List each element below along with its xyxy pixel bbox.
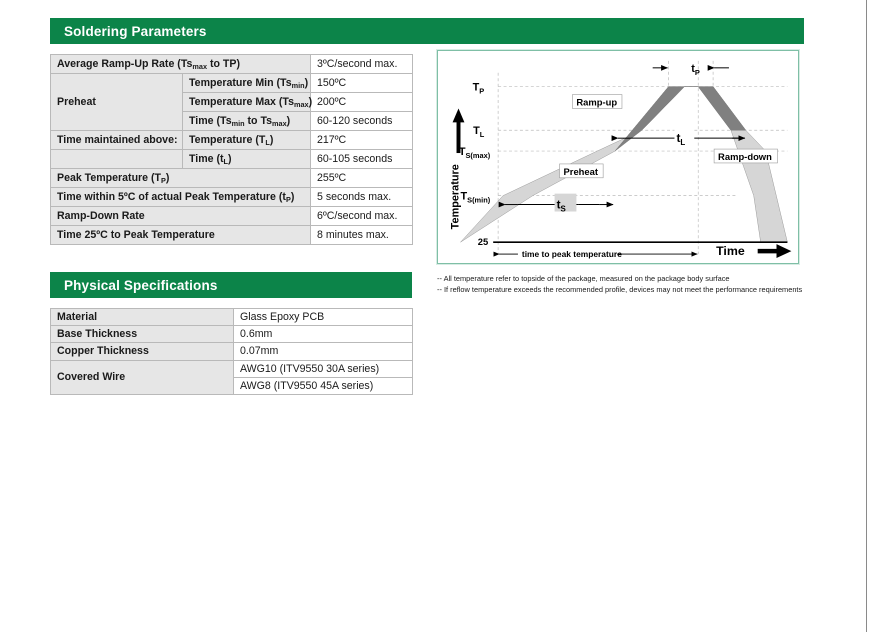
section-header-soldering-parameters: Soldering Parameters [50, 18, 804, 44]
cell-label-copper-thickness: Copper Thickness [51, 343, 234, 360]
section-title-soldering: Soldering Parameters [64, 24, 207, 39]
section-title-physical: Physical Specifications [64, 278, 218, 293]
annotation-ramp-up-label: Ramp-up [576, 96, 617, 107]
cell-value-covered-wire-1: AWG10 (ITV9550 30A series) [234, 360, 413, 377]
cell-value: 6ºC/second max. [311, 207, 413, 226]
cell-value: 60-120 seconds [311, 112, 413, 131]
annotation-preheat-label: Preheat [564, 166, 599, 177]
cell-label-base-thickness: Base Thickness [51, 326, 234, 343]
table-row: Time (tL) 60-105 seconds [51, 150, 413, 169]
annotation-time-to-peak-label: time to peak temperature [522, 249, 622, 259]
table-row: Preheat Temperature Min (Tsmin) 150ºC [51, 74, 413, 93]
cell-value: 255ºC [311, 169, 413, 188]
table-row: Ramp-Down Rate 6ºC/second max. [51, 207, 413, 226]
reflow-profile-chart-panel: Temperature TP TL TS(max) TS(min) 25 tP [437, 50, 799, 264]
chart-ytick-tp: TP [473, 82, 485, 96]
reflow-profile-chart: Temperature TP TL TS(max) TS(min) 25 tP [438, 51, 798, 263]
chart-ytick-tl: TL [473, 125, 485, 139]
cell-subscript: min [292, 81, 305, 90]
cell-subscript-2: max [272, 119, 287, 128]
cell-value-copper-thickness: 0.07mm [234, 343, 413, 360]
cell-label: Time (Tsmin to Tsmax) [183, 112, 311, 131]
cell-subscript: L [265, 138, 269, 147]
cell-value-material: Glass Epoxy PCB [234, 309, 413, 326]
cell-value-covered-wire-2: AWG8 (ITV9550 45A series) [234, 377, 413, 394]
cell-label-material: Material [51, 309, 234, 326]
cell-label: Time (tL) [183, 150, 311, 169]
cell-value: 60-105 seconds [311, 150, 413, 169]
cell-text-part: Temperature (T [189, 134, 265, 146]
page-right-edge-line [866, 0, 867, 632]
cell-label: Ramp-Down Rate [51, 207, 311, 226]
cell-text-tail: ) [287, 115, 291, 127]
cell-value: 150ºC [311, 74, 413, 93]
chart-footnotes: -- All temperature refer to topside of t… [437, 273, 837, 296]
cell-label: Temperature (TL) [183, 131, 311, 150]
cell-text-tail: to TP) [207, 58, 240, 70]
cell-label: Temperature Max (Tsmax) [183, 93, 311, 112]
cell-text-part: Temperature Min (Ts [189, 77, 292, 89]
chart-band-light [460, 87, 787, 243]
footnote-line-2: -- If reflow temperature exceeds the rec… [437, 284, 837, 295]
cell-value-base-thickness: 0.6mm [234, 326, 413, 343]
table-row: Average Ramp-Up Rate (Tsmax to TP) 3ºC/s… [51, 55, 413, 74]
cell-label: Time 25ºC to Peak Temperature [51, 226, 311, 245]
cell-label-preheat: Preheat [51, 74, 183, 131]
cell-text-tail: ) [291, 191, 295, 203]
cell-text-mid: to Ts [245, 115, 272, 127]
cell-text-part: Temperature Max (Ts [189, 96, 294, 108]
cell-subscript: P [161, 176, 166, 185]
chart-band-dark-right [698, 87, 746, 131]
cell-subscript: P [286, 195, 291, 204]
cell-text-tail: ) [228, 153, 232, 165]
annotation-preheat: Preheat [560, 164, 604, 178]
cell-subscript: L [224, 157, 228, 166]
table-row: Base Thickness 0.6mm [51, 326, 413, 343]
cell-text-part: Peak Temperature (T [57, 172, 161, 184]
cell-text-tail: ) [166, 172, 170, 184]
cell-value: 217ºC [311, 131, 413, 150]
cell-blank [51, 150, 183, 169]
cell-text-part: Time (t [189, 153, 224, 165]
table-row: Time 25ºC to Peak Temperature 8 minutes … [51, 226, 413, 245]
table-row: Time within 5ºC of actual Peak Temperatu… [51, 188, 413, 207]
cell-label: Time within 5ºC of actual Peak Temperatu… [51, 188, 311, 207]
chart-ytick-25: 25 [478, 236, 488, 247]
chart-band-dark-left [615, 87, 684, 151]
physical-specifications-table: Material Glass Epoxy PCB Base Thickness … [50, 308, 413, 395]
annotation-ramp-up: Ramp-up [572, 95, 622, 109]
section-header-physical-specifications: Physical Specifications [50, 272, 412, 298]
cell-label: Temperature Min (Tsmin) [183, 74, 311, 93]
cell-label: Average Ramp-Up Rate (Tsmax to TP) [51, 55, 311, 74]
table-row: Time maintained above: Temperature (TL) … [51, 131, 413, 150]
cell-value: 200ºC [311, 93, 413, 112]
cell-label-time-maintained: Time maintained above: [51, 131, 183, 150]
cell-text-part: Time (Ts [189, 115, 232, 127]
cell-text-tail: ) [270, 134, 274, 146]
datasheet-page: Soldering Parameters Average Ramp-Up Rat… [0, 0, 884, 632]
footnote-line-1: -- All temperature refer to topside of t… [437, 273, 837, 284]
table-row: Material Glass Epoxy PCB [51, 309, 413, 326]
cell-value: 3ºC/second max. [311, 55, 413, 74]
annotation-ramp-down: Ramp-down [714, 149, 777, 163]
cell-subscript: max [192, 62, 207, 71]
cell-label: Peak Temperature (TP) [51, 169, 311, 188]
time-axis-arrow-icon [758, 244, 792, 258]
cell-text-part: Time within 5ºC of actual Peak Temperatu… [57, 191, 286, 203]
cell-text-part: Average Ramp-Up Rate (Ts [57, 58, 192, 70]
cell-label-covered-wire: Covered Wire [51, 360, 234, 394]
table-row: Covered Wire AWG10 (ITV9550 30A series) [51, 360, 413, 377]
cell-subscript: max [294, 100, 309, 109]
cell-subscript: min [232, 119, 245, 128]
chart-ytick-tsmin: TS(min) [461, 191, 491, 205]
cell-value: 5 seconds max. [311, 188, 413, 207]
cell-value: 8 minutes max. [311, 226, 413, 245]
table-row: Peak Temperature (TP) 255ºC [51, 169, 413, 188]
label-tp: tP [691, 63, 700, 77]
cell-text-tail: ) [309, 96, 313, 108]
annotation-ramp-down-label: Ramp-down [718, 151, 772, 162]
cell-text-tail: ) [305, 77, 309, 89]
table-row: Copper Thickness 0.07mm [51, 343, 413, 360]
chart-xlabel: Time [716, 244, 745, 258]
chart-ytick-tsmax: TS(max) [459, 146, 491, 160]
soldering-parameters-table: Average Ramp-Up Rate (Tsmax to TP) 3ºC/s… [50, 54, 413, 245]
